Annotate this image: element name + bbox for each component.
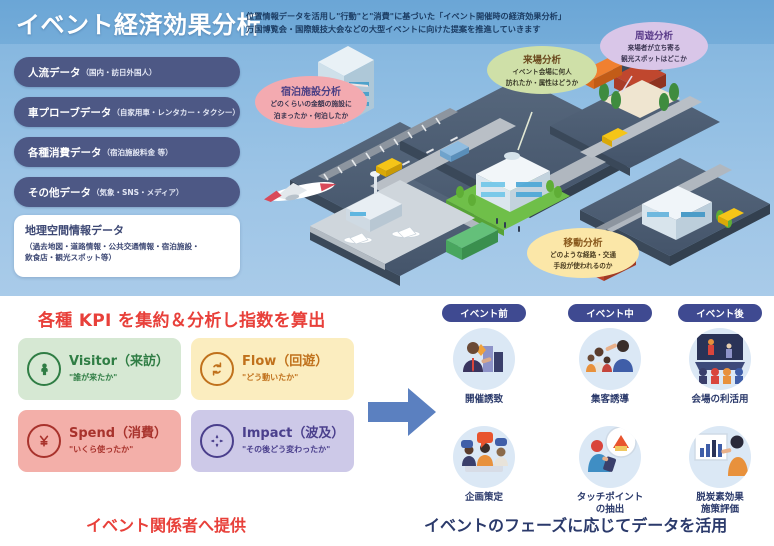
kpi-section-footer: イベント関係者へ提供 (86, 512, 246, 536)
pill-label-main: 人流データ (28, 65, 81, 80)
subtitle-line-1: 位置情報データを活用し"行動"と"消費"に基づいた「イベント開催時の経済効果分析… (246, 10, 666, 23)
callout-line-2: 訪れたか・属性はどうか (506, 79, 579, 88)
kpi-name: Impact（波及） (242, 427, 344, 441)
geo-card-sub-line-1: （過去地図・道路情報・公共交通情報・宿泊施設・ (25, 241, 229, 252)
kpi-name: Visitor（来訪） (69, 355, 169, 369)
kpi-text: Visitor（来訪） "誰が来たか" (69, 355, 169, 383)
kpi-card-flow[interactable]: Flow（回遊） "どう動いたか" (191, 338, 354, 400)
pill-label-main: 各種消費データ (28, 145, 102, 160)
illustration-touchpoint-extraction (579, 426, 641, 488)
callout-line-1: イベント会場に何人 (512, 68, 571, 77)
phase-row1-label: 集客誘導 (560, 394, 660, 406)
kpi-card-impact[interactable]: Impact（波及） "その後どう変わったか" (191, 410, 354, 472)
phase-item-planning[interactable]: 企画策定 (434, 420, 534, 504)
data-source-pill-car-probe[interactable]: 車プローブデータ （自家用車・レンタカー・タクシー） (14, 97, 240, 127)
pill-label-sub: （自家用車・レンタカー・タクシー） (112, 107, 240, 118)
pill-label-sub: （気象・SNS・メディア） (92, 187, 184, 198)
kpi-name: Spend（消費） (69, 427, 167, 441)
kpi-text: Spend（消費） "いくら使ったか" (69, 427, 167, 455)
callout-title: 移動分析 (563, 235, 602, 249)
expand-arrows-icon (200, 424, 234, 458)
phase-row2-label: 企画策定 (434, 492, 534, 504)
person-icon (27, 352, 61, 386)
refresh-cycle-icon (200, 352, 234, 386)
top-section: イベント経済効果分析 位置情報データを活用し"行動"と"消費"に基づいた「イベン… (0, 0, 774, 296)
phase-badge: イベント後 (678, 304, 762, 322)
callout-line-1: 来場者が立ち寄る (628, 44, 681, 53)
callout-lodging-analysis[interactable]: 宿泊施設分析 どのくらいの金額の施設に 泊まったか・何泊したか (255, 76, 367, 128)
kpi-quote: "その後どう変わったか" (242, 444, 344, 455)
phase-row1-label: 会場の利活用 (670, 394, 770, 406)
phase-badge: イベント前 (442, 304, 526, 322)
bottom-section: 各種 KPI を集約＆分析し指数を算出 Visitor（来訪） "誰が来たか" (0, 296, 774, 546)
callout-title: 周遊分析 (635, 28, 673, 42)
kpi-quote: "どう動いたか" (242, 372, 328, 383)
phase-item-touchpoint[interactable]: タッチポイントの抽出 (560, 420, 660, 516)
phase-section-footer: イベントのフェーズに応じてデータを活用 (424, 512, 727, 536)
callout-tour-analysis[interactable]: 周遊分析 来場者が立ち寄る 観光スポットはどこか (600, 22, 708, 70)
illustration-venue-utilization (689, 328, 751, 390)
infographic-page: イベント経済効果分析 位置情報データを活用し"行動"と"消費"に基づいた「イベン… (0, 0, 774, 546)
kpi-text: Impact（波及） "その後どう変わったか" (242, 427, 344, 455)
kpi-name: Flow（回遊） (242, 355, 328, 369)
callout-title: 来場分析 (523, 52, 561, 66)
phase-row1-label: 開催誘致 (434, 394, 534, 406)
kpi-quote: "いくら使ったか" (69, 444, 167, 455)
phase-before-event[interactable]: イベント前 開催誘致 (434, 304, 534, 406)
pill-label-main: 車プローブデータ (28, 105, 111, 120)
kpi-quote: "誰が来たか" (69, 372, 169, 383)
subtitle-line-2: 万国博覧会・国際競技大会などの大型イベントに向けた提案を推進していきます (246, 23, 666, 36)
callout-line-1: どのくらいの金額の施設に (270, 100, 352, 109)
pill-label-main: その他データ (28, 185, 91, 200)
flow-arrow (368, 384, 438, 440)
callout-line-2: 観光スポットはどこか (621, 55, 687, 64)
callout-venue-analysis[interactable]: 来場分析 イベント会場に何人 訪れたか・属性はどうか (487, 46, 597, 94)
illustration-planning-meeting (453, 426, 515, 488)
geo-card-sub-line-2: 飲食店・観光スポット等） (25, 252, 229, 263)
phase-during-event[interactable]: イベント中 集客誘導 (560, 304, 660, 406)
phase-badge: イベント中 (568, 304, 652, 322)
page-subtitle: 位置情報データを活用し"行動"と"消費"に基づいた「イベント開催時の経済効果分析… (246, 10, 666, 35)
kpi-section-heading: 各種 KPI を集約＆分析し指数を算出 (38, 306, 326, 331)
phase-after-event[interactable]: イベント後 会場の利活用 (670, 304, 770, 406)
geospatial-data-card[interactable]: 地理空間情報データ （過去地図・道路情報・公共交通情報・宿泊施設・ 飲食店・観光… (14, 215, 240, 277)
kpi-card-spend[interactable]: Spend（消費） "いくら使ったか" (18, 410, 181, 472)
callout-movement-analysis[interactable]: 移動分析 どのような経路・交通 手段が使われるのか (527, 228, 639, 278)
yen-icon (27, 424, 61, 458)
data-source-pill-consumption[interactable]: 各種消費データ （宿泊施設料金 等） (14, 137, 240, 167)
callout-line-2: 手段が使われるのか (553, 262, 612, 271)
data-source-pill-other[interactable]: その他データ （気象・SNS・メディア） (14, 177, 240, 207)
callout-line-1: どのような経路・交通 (550, 251, 616, 260)
phase-item-decarbonization[interactable]: 脱炭素効果施策評価 (670, 420, 770, 516)
callout-line-2: 泊まったか・何泊したか (274, 112, 349, 121)
callout-title: 宿泊施設分析 (281, 83, 341, 98)
illustration-host-invitation (453, 328, 515, 390)
kpi-text: Flow（回遊） "どう動いたか" (242, 355, 328, 383)
data-source-pill-jinryu[interactable]: 人流データ （国内・訪日外国人） (14, 57, 240, 87)
page-title: イベント経済効果分析 (16, 5, 261, 40)
geo-card-title: 地理空間情報データ (25, 222, 229, 238)
kpi-card-visitor[interactable]: Visitor（来訪） "誰が来たか" (18, 338, 181, 400)
illustration-decarbonization-evaluation (689, 426, 751, 488)
pill-label-sub: （国内・訪日外国人） (82, 67, 157, 78)
pill-label-sub: （宿泊施設料金 等） (103, 147, 173, 158)
illustration-crowd-guidance (579, 328, 641, 390)
